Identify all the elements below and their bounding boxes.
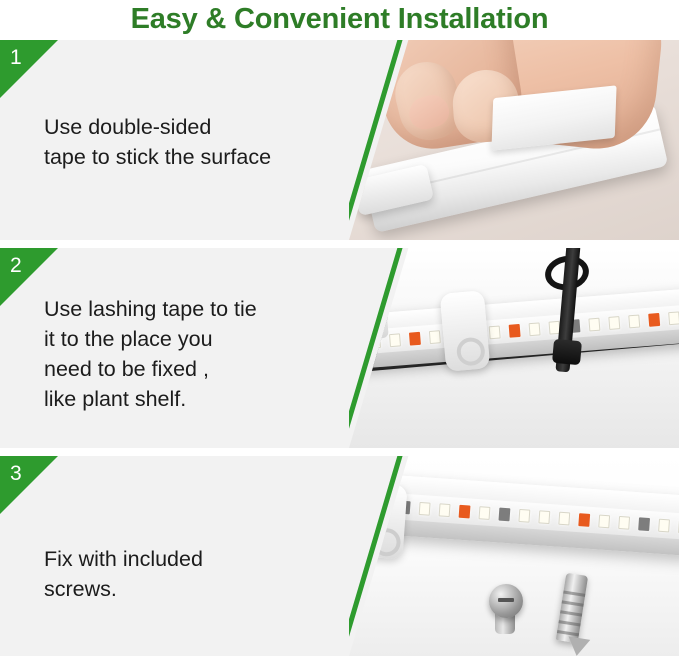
led-chip (628, 314, 640, 328)
photo-canvas-3 (349, 456, 679, 656)
led-chip (509, 323, 521, 337)
led-chip (538, 510, 550, 524)
led-chip (389, 333, 401, 347)
step-photo-1 (349, 40, 679, 240)
led-chip (529, 322, 541, 336)
step-description-1: Use double-sided tape to stick the surfa… (44, 112, 374, 172)
led-chip (558, 511, 570, 525)
step-block-3: 3 Fix with included screws. (0, 456, 679, 656)
led-chip (668, 311, 679, 325)
led-chip (608, 316, 620, 330)
step-number-1: 1 (10, 46, 22, 70)
photo-canvas-1 (349, 40, 679, 240)
mounting-clip-2 (440, 290, 491, 372)
led-chip (588, 317, 600, 331)
page-title: Easy & Convenient Installation (131, 3, 549, 36)
zip-tie-head (552, 339, 582, 365)
product-infographic: Easy & Convenient Installation 1 Use dou… (0, 0, 679, 669)
led-chip (658, 518, 670, 532)
led-chip (459, 504, 471, 518)
step-block-2: 2 Use lashing tape to tie it to the plac… (0, 248, 679, 448)
led-chip (439, 503, 451, 517)
photo-canvas-2 (349, 248, 679, 448)
led-chip (598, 514, 610, 528)
led-chip (409, 331, 421, 345)
step-number-3: 3 (10, 462, 22, 486)
page-title-bar: Easy & Convenient Installation (0, 0, 679, 38)
led-chip (489, 325, 501, 339)
led-chip (638, 517, 650, 531)
led-chip (618, 515, 630, 529)
led-chip (479, 506, 491, 520)
led-chip (419, 501, 431, 515)
led-chip (499, 507, 511, 521)
led-chip (379, 499, 391, 513)
screw-tip (566, 636, 591, 656)
step-photo-3 (349, 456, 679, 656)
screw-head-round (489, 584, 523, 618)
step-number-badge-3 (0, 456, 58, 514)
led-chip (578, 513, 590, 527)
step-number-badge-1 (0, 40, 58, 98)
step-photo-2 (349, 248, 679, 448)
led-chip (429, 330, 441, 344)
step-description-3: Fix with included screws. (44, 544, 374, 604)
step-number-2: 2 (10, 254, 22, 278)
led-chip (648, 312, 660, 326)
step-block-1: 1 Use double-sided tape to stick the sur… (0, 40, 679, 240)
step-description-2: Use lashing tape to tie it to the place … (44, 294, 374, 414)
led-chip (518, 508, 530, 522)
